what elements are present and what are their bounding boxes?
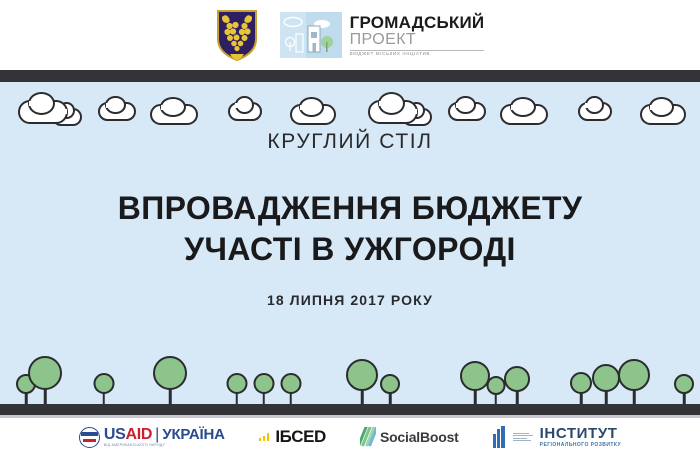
usaid-wordmark: US AID | УКРАЇНА ВІД АМЕРИКАНСЬКОГО НАРО… — [104, 427, 225, 447]
tree-icon — [594, 368, 618, 404]
cloud-seam-mask — [379, 101, 398, 106]
tree-icon — [620, 363, 648, 404]
cloud-seam-mask — [650, 105, 667, 110]
poster-headline: ВПРОВАДЖЕННЯ БЮДЖЕТУ УЧАСТІ В УЖГОРОДІ — [0, 188, 700, 270]
tree-icon — [255, 377, 272, 404]
ibsed-wordmark: ІБСЕD — [275, 427, 326, 447]
tree-crown — [570, 372, 592, 394]
tree-crown — [253, 373, 274, 394]
logo-line-1: ГРОМАДСЬКИЙ — [350, 14, 485, 31]
headline-line-1: ВПРОВАДЖЕННЯ БЮДЖЕТУ — [0, 188, 700, 229]
tree-crown — [346, 359, 378, 391]
tree-icon — [348, 363, 376, 404]
tree-crown — [153, 356, 187, 390]
usaid-seal-icon — [79, 427, 100, 448]
ground-strip — [0, 404, 700, 415]
tree-crown — [486, 376, 505, 395]
cloud-seam-mask — [456, 103, 469, 108]
tree-row — [0, 344, 700, 404]
cloud-seam-mask — [161, 105, 179, 110]
headline-line-2: УЧАСТІ В УЖГОРОДІ — [0, 229, 700, 270]
socialboost-slash-icon — [360, 427, 376, 447]
tree-crown — [504, 366, 530, 392]
poster-text-block: КРУГЛИЙ СТІЛ ВПРОВАДЖЕННЯ БЮДЖЕТУ УЧАСТІ… — [0, 130, 700, 308]
cloud-seam-mask — [29, 101, 48, 106]
tree-icon — [382, 378, 398, 404]
socialboost-wordmark: SocialBoost — [380, 429, 459, 445]
institute-wordmark: ІНСТИТУТ РЕГІОНАЛЬНОГО РОЗВИТКУ — [540, 426, 621, 448]
tree-icon — [572, 376, 590, 404]
institute-bars-icon — [493, 426, 509, 448]
tree-crown — [618, 359, 650, 391]
logo-subtitle: БЮДЖЕТ МІСЬКИХ ІНІЦІАТИВ — [350, 52, 485, 57]
tree-crown — [674, 374, 694, 394]
usaid-tagline: ВІД АМЕРИКАНСЬКОГО НАРОДУ — [104, 444, 225, 447]
uzhhorod-coat-of-arms-icon — [216, 9, 258, 61]
cloud-seam-mask — [585, 103, 596, 108]
cloud-seam-mask — [106, 103, 119, 108]
poster-root: ГРОМАДСЬКИЙ ПРОЕКТ БЮДЖЕТ МІСЬКИХ ІНІЦІА… — [0, 0, 700, 456]
cloud-seam-mask — [511, 105, 529, 110]
cloud-seam-mask — [58, 109, 67, 114]
cloud-row — [0, 90, 700, 130]
tree-crown — [226, 373, 247, 394]
sky-panel: КРУГЛИЙ СТІЛ ВПРОВАДЖЕННЯ БЮДЖЕТУ УЧАСТІ… — [0, 82, 700, 404]
ibsed-logo: ІБСЕD — [259, 427, 326, 447]
tree-icon — [488, 380, 503, 404]
usaid-us-text: US — [104, 427, 126, 443]
institute-logo: ІНСТИТУТ РЕГІОНАЛЬНОГО РОЗВИТКУ — [493, 426, 621, 448]
socialboost-logo: SocialBoost — [360, 427, 459, 447]
tree-crown — [28, 356, 62, 390]
tree-icon — [155, 360, 185, 404]
tree-icon — [676, 378, 692, 404]
ibsed-dots-icon — [259, 433, 270, 441]
tree-icon — [282, 377, 299, 404]
header-divider — [0, 70, 700, 82]
tree-icon — [95, 377, 112, 404]
usaid-aid-text: AID — [126, 427, 153, 443]
tree-icon — [30, 360, 60, 404]
usaid-separator: | — [155, 427, 159, 443]
hromadskyi-proekt-logo: ГРОМАДСЬКИЙ ПРОЕКТ БЮДЖЕТ МІСЬКИХ ІНІЦІА… — [280, 12, 485, 58]
poster-kicker: КРУГЛИЙ СТІЛ — [0, 130, 700, 154]
institute-line-1: ІНСТИТУТ — [540, 426, 621, 441]
tree-icon — [462, 365, 488, 404]
tree-crown — [592, 364, 620, 392]
footer-logo-bar: US AID | УКРАЇНА ВІД АМЕРИКАНСЬКОГО НАРО… — [0, 418, 700, 456]
hromadskyi-proekt-wordmark: ГРОМАДСЬКИЙ ПРОЕКТ БЮДЖЕТ МІСЬКИХ ІНІЦІА… — [350, 14, 485, 57]
cloud-seam-mask — [408, 109, 417, 114]
hromadskyi-proekt-illustration-icon — [280, 12, 342, 58]
cloud-seam-mask — [300, 105, 317, 110]
tree-icon — [228, 377, 245, 404]
header-bar: ГРОМАДСЬКИЙ ПРОЕКТ БЮДЖЕТ МІСЬКИХ ІНІЦІА… — [0, 0, 700, 70]
tree-crown — [280, 373, 301, 394]
tree-crown — [93, 373, 114, 394]
tree-icon — [506, 370, 528, 404]
usaid-logo: US AID | УКРАЇНА ВІД АМЕРИКАНСЬКОГО НАРО… — [79, 427, 225, 448]
usaid-country-text: УКРАЇНА — [162, 427, 224, 442]
tree-crown — [380, 374, 400, 394]
cloud-seam-mask — [235, 103, 246, 108]
logo-line-2: ПРОЕКТ — [350, 32, 485, 48]
institute-hairlines-icon — [513, 433, 533, 441]
institute-line-2: РЕГІОНАЛЬНОГО РОЗВИТКУ — [540, 443, 621, 448]
poster-date: 18 ЛИПНЯ 2017 РОКУ — [0, 292, 700, 308]
